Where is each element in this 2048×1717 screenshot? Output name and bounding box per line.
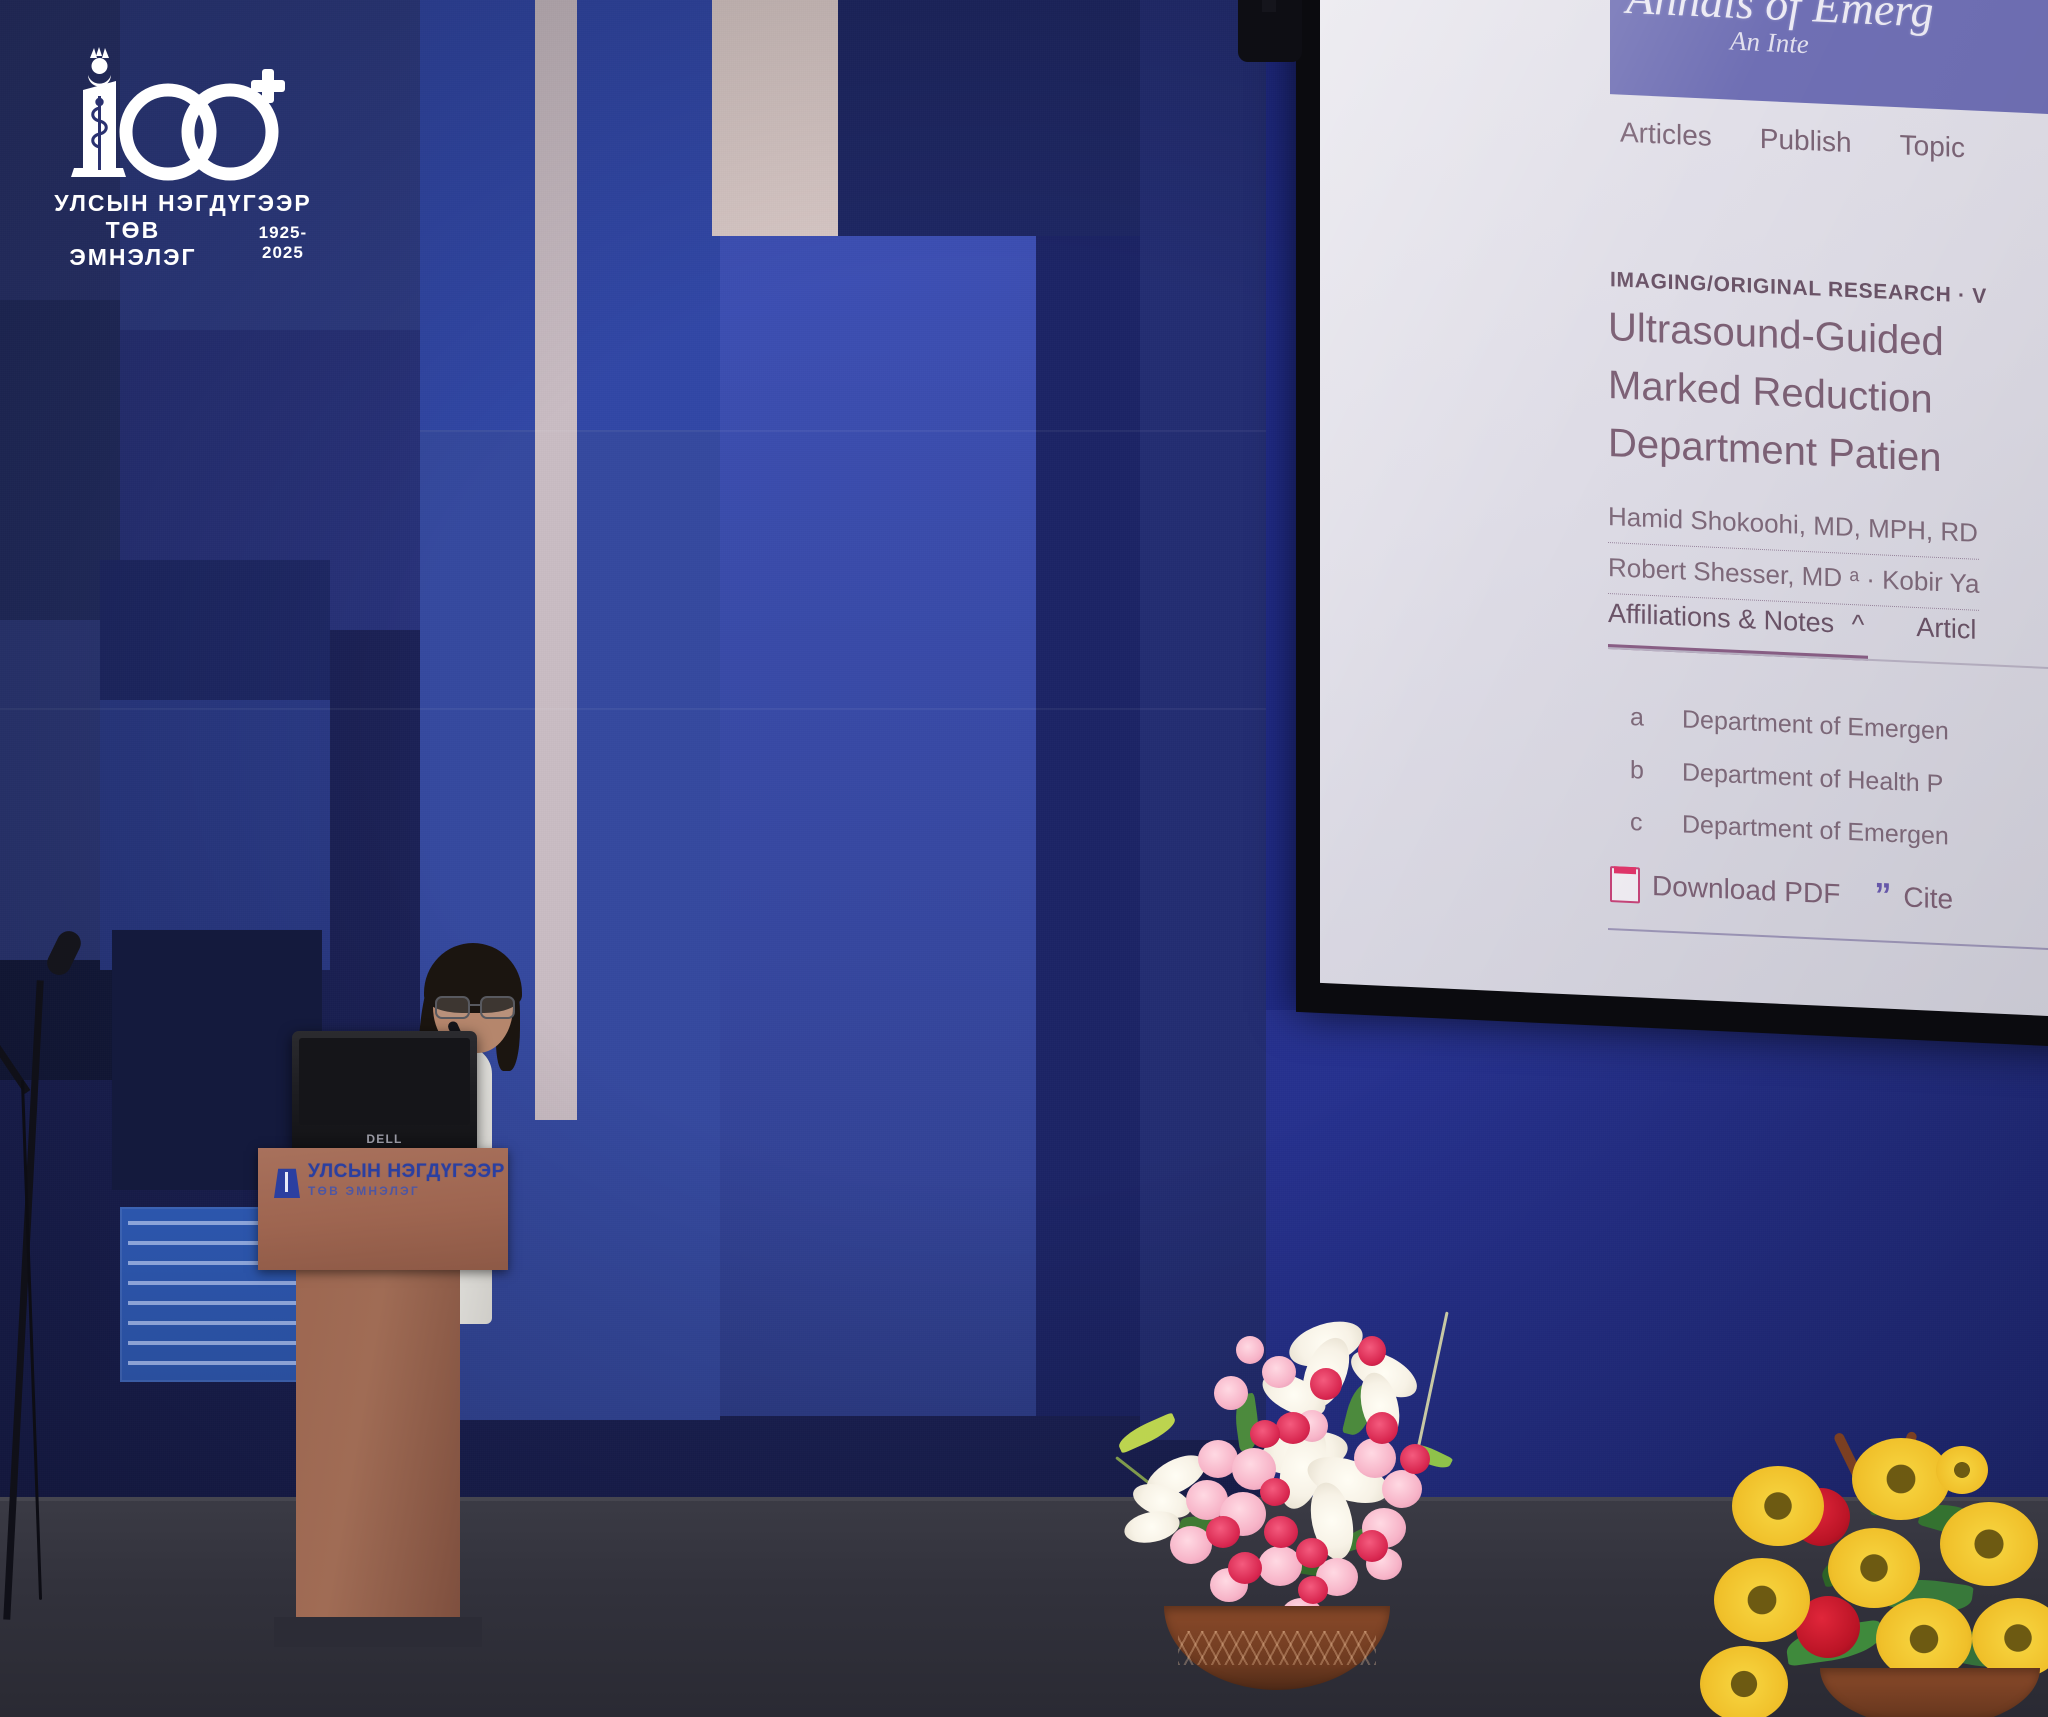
rose-flower <box>1276 1412 1310 1444</box>
carnation-flower <box>1262 1356 1296 1388</box>
affiliation-marker-c: c <box>1630 796 1682 851</box>
rose-flower <box>1400 1444 1430 1474</box>
rose-flower <box>1366 1412 1398 1444</box>
tabs-divider <box>1608 647 2048 673</box>
logo-line-2: ТӨВ ЭМНЭЛЭГ <box>38 217 228 271</box>
logo-mark-100 <box>38 40 288 190</box>
rose-flower <box>1264 1516 1298 1548</box>
rose-flower <box>1260 1478 1290 1506</box>
rose-flower <box>1296 1538 1328 1568</box>
sunflower <box>1714 1558 1810 1642</box>
nav-item-publish[interactable]: Publish <box>1760 123 1852 159</box>
logo-line-1: УЛСЫН НЭГДҮГЭЭР <box>38 190 328 217</box>
speaker-eyeglasses <box>434 996 514 1016</box>
podium-base <box>274 1617 482 1647</box>
sunflower <box>1936 1446 1988 1494</box>
rose-flower <box>1356 1530 1388 1562</box>
tab-article[interactable]: Articl <box>1916 612 1976 646</box>
sunflower <box>1940 1502 2038 1586</box>
quote-icon: ” <box>1874 884 1891 909</box>
rose-flower <box>1250 1420 1280 1448</box>
rose-flower <box>1228 1552 1262 1584</box>
monitor-screen <box>299 1038 470 1125</box>
rose-flower <box>1358 1336 1386 1366</box>
cite-label: Cite <box>1903 881 1953 915</box>
flower-basket-pink <box>1110 1320 1470 1680</box>
projection-screen-frame: Annals of Emerg An Inte Articles Publish… <box>1296 0 2048 1048</box>
toolbar-divider <box>1608 928 2048 954</box>
flower-basket-sunflower <box>1700 1420 2048 1717</box>
logo-caption: УЛСЫН НЭГДҮГЭЭР ТӨВ ЭМНЭЛЭГ 1925-2025 <box>38 190 328 271</box>
pdf-icon <box>1610 866 1640 903</box>
sunflower <box>1828 1528 1920 1608</box>
podium-column <box>296 1265 460 1623</box>
article-authors: Hamid Shokoohi, MD, MPH, RD Robert Shess… <box>1608 492 1979 611</box>
rose-flower <box>1206 1516 1240 1548</box>
rose-flower <box>1298 1576 1328 1604</box>
nav-item-topics[interactable]: Topic <box>1900 129 1965 164</box>
journal-nav-bar[interactable]: Articles Publish Topic <box>1620 117 1965 165</box>
article-title: Ultrasound-Guided Marked Reduction Depar… <box>1608 298 1944 487</box>
sunflower <box>1852 1438 1950 1520</box>
carnation-flower <box>1382 1470 1422 1508</box>
conference-photo: Annals of Emerg An Inte Articles Publish… <box>0 0 2048 1717</box>
projection-screen-surface: Annals of Emerg An Inte Articles Publish… <box>1320 0 2048 1018</box>
wicker-basket <box>1164 1606 1390 1690</box>
ceiling-fixture-stem <box>1262 0 1276 12</box>
chevron-up-icon[interactable]: ^ <box>1852 609 1865 641</box>
podium-sign-line-2: ТӨВ ЭМНЭЛЭГ <box>308 1184 420 1198</box>
rose-flower <box>1310 1368 1342 1400</box>
podium-sign-line-1: УЛСЫН НЭГДҮГЭЭР <box>308 1161 505 1182</box>
podium-front-panel: УЛСЫН НЭГДҮГЭЭР ТӨВ ЭМНЭЛЭГ <box>258 1148 508 1270</box>
carnation-flower <box>1236 1336 1264 1364</box>
wicker-basket <box>1820 1668 2040 1717</box>
affiliation-marker-b: b <box>1630 744 1682 799</box>
affiliations-notes-toggle[interactable]: Affiliations & Notes ^ <box>1608 598 1864 641</box>
sunflower <box>1700 1646 1788 1717</box>
affiliation-marker-a: a <box>1630 691 1682 746</box>
affiliations-list: aDepartment of Emergen bDepartment of He… <box>1630 691 1949 863</box>
affiliation-text-b: Department of Health P <box>1682 758 1943 798</box>
hospital-centenary-logo: УЛСЫН НЭГДҮГЭЭР ТӨВ ЭМНЭЛЭГ 1925-2025 <box>38 40 328 271</box>
carnation-flower <box>1354 1438 1396 1478</box>
carnation-flower <box>1214 1376 1248 1410</box>
flower-leaf <box>1115 1412 1179 1454</box>
logo-years: 1925-2025 <box>238 223 328 263</box>
download-pdf-button[interactable]: Download PDF <box>1610 866 1840 912</box>
sunflower <box>1732 1466 1824 1546</box>
wall-seam-horizontal <box>0 708 1266 710</box>
wall-panel-cream-stripe <box>535 0 577 1120</box>
nav-item-articles[interactable]: Articles <box>1620 117 1712 153</box>
hospital-caduceus-icon <box>274 1164 300 1198</box>
affiliation-text-a: Department of Emergen <box>1682 705 1949 745</box>
dell-logo: DELL <box>292 1132 477 1146</box>
download-pdf-label: Download PDF <box>1652 870 1840 911</box>
affiliation-text-c: Department of Emergen <box>1682 810 1949 850</box>
wall-panel-cream-block <box>712 0 838 236</box>
cite-button[interactable]: ” Cite <box>1874 880 1953 916</box>
wall-seam-horizontal-2 <box>420 430 1266 432</box>
journal-subtitle: An Inte <box>1730 26 1809 61</box>
journal-masthead-banner: Annals of Emerg An Inte <box>1610 0 2048 118</box>
podium-signage: УЛСЫН НЭГДҮГЭЭР ТӨВ ЭМНЭЛЭГ <box>274 1162 505 1200</box>
dell-monitor: DELL <box>292 1031 477 1151</box>
article-action-toolbar[interactable]: Download PDF ” Cite <box>1610 866 1953 918</box>
